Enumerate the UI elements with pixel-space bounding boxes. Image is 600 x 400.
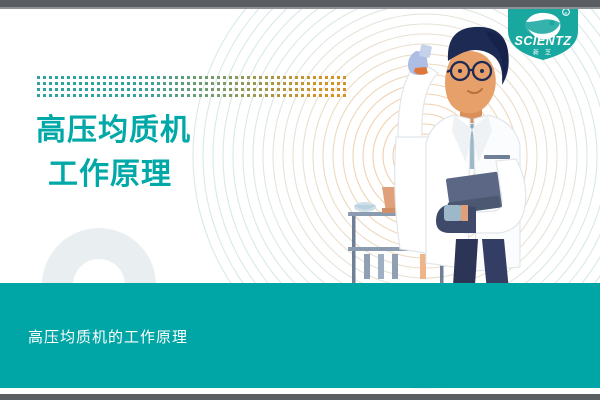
grid-dot [43,94,46,97]
grid-dot [331,76,334,79]
page-title-line-2: 工作原理 [36,153,316,197]
grid-dot [79,76,82,79]
grid-dot [61,88,64,91]
grid-dot [109,76,112,79]
grid-dot [271,76,274,79]
grid-dot [283,76,286,79]
grid-dot [109,88,112,91]
scientz-logo: R SCIENTZ 新 芝 [504,9,582,61]
grid-dot [229,76,232,79]
grid-dot [259,88,262,91]
grid-dot [331,94,334,97]
grid-dot [223,94,226,97]
grid-dot [193,94,196,97]
logo-wordmark: SCIENTZ [515,34,573,48]
grid-dot [85,94,88,97]
grid-dot [169,94,172,97]
grid-dot [169,82,172,85]
grid-dot [115,94,118,97]
grid-dot [295,88,298,91]
slide-canvas: 高压均质机 工作原理 R SCIENTZ 新 芝 [0,9,600,394]
grid-dot [205,88,208,91]
grid-dot [283,82,286,85]
grid-dot [241,82,244,85]
dot-grid-row [37,94,346,97]
grid-dot [271,88,274,91]
grid-dot [133,94,136,97]
grid-dot [187,88,190,91]
grid-dot [187,94,190,97]
page-title-line-1: 高压均质机 [36,109,316,153]
grid-dot [277,88,280,91]
grid-dot [133,76,136,79]
grid-dot [217,88,220,91]
grid-dot [307,76,310,79]
grid-dot [49,76,52,79]
grid-dot [163,88,166,91]
grid-dot [97,94,100,97]
grid-dot [181,82,184,85]
browser-chrome-bottom [0,394,600,400]
grid-dot [151,76,154,79]
grid-dot [319,94,322,97]
grid-dot [199,82,202,85]
grid-dot [253,88,256,91]
logo-subtext: 新 芝 [533,49,553,57]
grid-dot [61,76,64,79]
grid-dot [313,88,316,91]
grid-dot [223,88,226,91]
grid-dot [199,88,202,91]
grid-dot [319,76,322,79]
grid-dot [139,76,142,79]
grid-dot [37,88,40,91]
grid-dot [79,88,82,91]
grid-dot [157,76,160,79]
grid-dot [277,94,280,97]
grid-dot [109,82,112,85]
grid-dot [307,82,310,85]
grid-dot [127,82,130,85]
grid-dot [169,76,172,79]
grid-dot [145,88,148,91]
grid-dot [157,94,160,97]
grid-dot [259,94,262,97]
grid-dot [85,76,88,79]
grid-dot [91,94,94,97]
grid-dot [325,76,328,79]
grid-dot [187,76,190,79]
grid-dot [283,94,286,97]
grid-dot [73,76,76,79]
grid-dot [247,76,250,79]
grid-dot [157,88,160,91]
grid-dot [289,82,292,85]
grid-dot [55,76,58,79]
grid-dot [307,94,310,97]
footer-caption: 高压均质机的工作原理 [28,326,188,347]
grid-dot [289,76,292,79]
grid-dot [67,94,70,97]
browser-chrome-top [0,0,600,7]
grid-dot [121,76,124,79]
grid-dot [121,94,124,97]
dot-grid-row [37,76,346,79]
grid-dot [67,88,70,91]
grid-dot [241,94,244,97]
grid-dot [79,82,82,85]
grid-dot [271,82,274,85]
grid-dot [343,88,346,91]
grid-dot [97,76,100,79]
grid-dot [259,82,262,85]
grid-dot [109,94,112,97]
grid-dot [205,94,208,97]
grid-dot [127,88,130,91]
grid-dot [265,88,268,91]
grid-dot [295,76,298,79]
grid-dot [313,94,316,97]
grid-dot [175,82,178,85]
grid-dot [181,88,184,91]
grid-dot [43,76,46,79]
grid-dot [115,88,118,91]
grid-dot [139,82,142,85]
grid-dot [205,76,208,79]
grid-dot [55,82,58,85]
grid-dot [337,94,340,97]
grid-dot [67,76,70,79]
dot-grid-row [37,82,346,85]
grid-dot [85,82,88,85]
grid-dot [91,82,94,85]
grid-dot [145,76,148,79]
svg-text:R: R [565,10,568,15]
grid-dot [85,88,88,91]
grid-dot [163,82,166,85]
grid-dot [181,94,184,97]
grid-dot [223,82,226,85]
grid-dot [211,82,214,85]
grid-dot [253,82,256,85]
grid-dot [175,88,178,91]
grid-dot [199,76,202,79]
grid-dot [103,82,106,85]
grid-dot [181,76,184,79]
grid-dot [103,76,106,79]
grid-dot [163,76,166,79]
grid-dot [313,76,316,79]
grid-dot [295,94,298,97]
grid-dot [157,82,160,85]
grid-dot [79,94,82,97]
grid-dot [37,76,40,79]
grid-dot [193,88,196,91]
grid-dot [73,88,76,91]
grid-dot [307,88,310,91]
grid-dot [217,76,220,79]
grid-dot [211,88,214,91]
grid-dot [97,82,100,85]
grid-dot [193,82,196,85]
grid-dot [301,94,304,97]
grid-dot [301,82,304,85]
grid-dot [319,82,322,85]
presentation-slide: 高压均质机 工作原理 R SCIENTZ 新 芝 [0,0,600,400]
grid-dot [325,94,328,97]
grid-dot [325,82,328,85]
grid-dot [151,94,154,97]
grid-dot [49,88,52,91]
grid-dot [205,82,208,85]
page-title: 高压均质机 工作原理 [36,109,316,197]
grid-dot [211,94,214,97]
grid-dot [97,88,100,91]
grid-dot [337,82,340,85]
grid-dot [49,82,52,85]
grid-dot [265,82,268,85]
grid-dot [163,94,166,97]
grid-dot [253,76,256,79]
grid-dot [235,82,238,85]
grid-dot [139,88,142,91]
dot-grid-decoration [37,76,346,97]
grid-dot [187,82,190,85]
grid-dot [277,76,280,79]
grid-dot [277,82,280,85]
grid-dot [145,94,148,97]
grid-dot [301,76,304,79]
grid-dot [43,82,46,85]
grid-dot [115,76,118,79]
grid-dot [343,82,346,85]
grid-dot [259,76,262,79]
grid-dot [337,76,340,79]
grid-dot [103,88,106,91]
grid-dot [43,88,46,91]
grid-dot [73,94,76,97]
grid-dot [37,82,40,85]
grid-dot [73,82,76,85]
grid-dot [151,82,154,85]
grid-dot [289,88,292,91]
grid-dot [325,88,328,91]
grid-dot [37,94,40,97]
grid-dot [337,88,340,91]
grid-dot [127,94,130,97]
grid-dot [61,94,64,97]
grid-dot [235,94,238,97]
grid-dot [247,88,250,91]
grid-dot [289,94,292,97]
grid-dot [229,82,232,85]
grid-dot [127,76,130,79]
grid-dot [271,94,274,97]
grid-dot [331,82,334,85]
grid-dot [265,76,268,79]
grid-dot [253,94,256,97]
grid-dot [343,76,346,79]
grid-dot [121,82,124,85]
grid-dot [235,76,238,79]
grid-dot [235,88,238,91]
grid-dot [199,94,202,97]
grid-dot [139,94,142,97]
grid-dot [121,88,124,91]
grid-dot [247,82,250,85]
grid-dot [295,82,298,85]
grid-dot [55,94,58,97]
grid-dot [313,82,316,85]
grid-dot [175,76,178,79]
grid-dot [241,88,244,91]
grid-dot [241,76,244,79]
grid-dot [61,82,64,85]
grid-dot [91,76,94,79]
grid-dot [67,82,70,85]
grid-dot [319,88,322,91]
grid-dot [115,82,118,85]
grid-dot [229,88,232,91]
grid-dot [343,94,346,97]
grid-dot [133,82,136,85]
grid-dot [169,88,172,91]
grid-dot [145,82,148,85]
grid-dot [223,76,226,79]
grid-dot [247,94,250,97]
grid-dot [283,88,286,91]
dot-grid-row [37,88,346,91]
grid-dot [103,94,106,97]
grid-dot [91,88,94,91]
grid-dot [55,88,58,91]
grid-dot [49,94,52,97]
grid-dot [211,76,214,79]
grid-dot [265,94,268,97]
grid-dot [217,82,220,85]
grid-dot [301,88,304,91]
grid-dot [229,94,232,97]
grid-dot [175,94,178,97]
scientist-head [445,27,509,113]
grid-dot [151,88,154,91]
grid-dot [193,76,196,79]
grid-dot [217,94,220,97]
grid-dot [133,88,136,91]
grid-dot [331,88,334,91]
